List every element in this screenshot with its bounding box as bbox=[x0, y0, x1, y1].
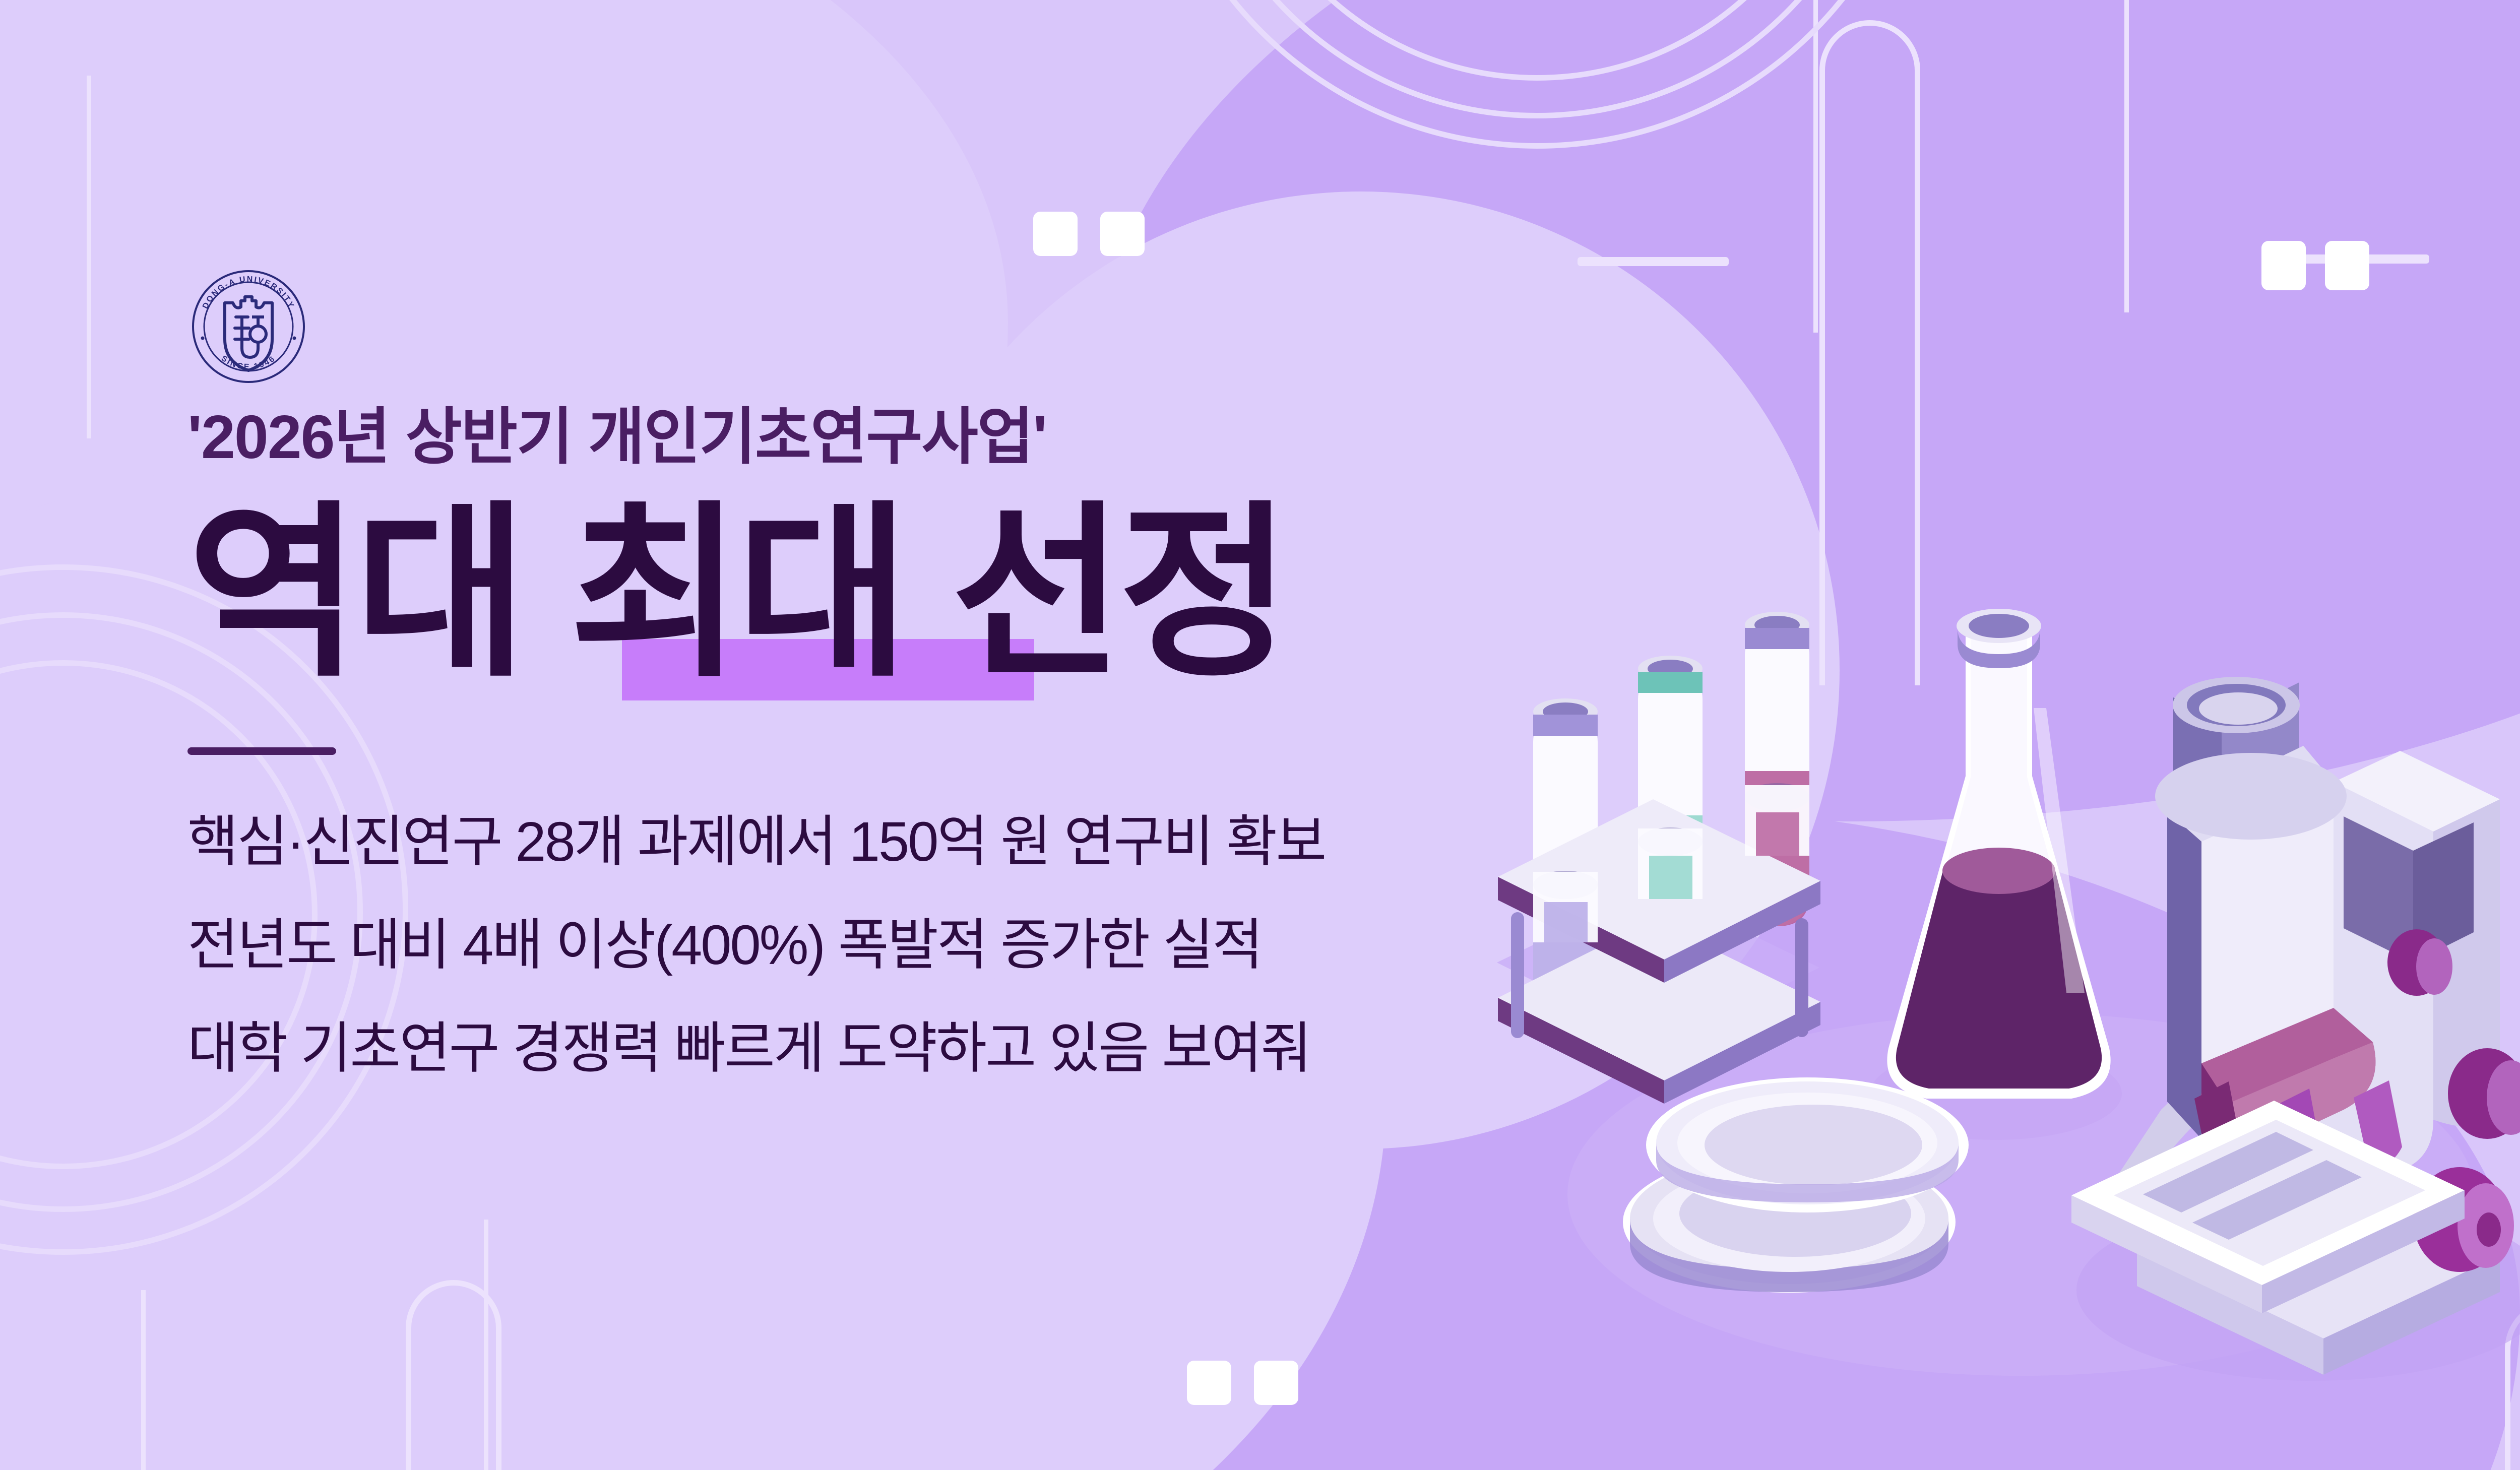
decorative-tick-bar bbox=[1578, 257, 1729, 266]
decorative-vertical-rule bbox=[1813, 0, 1818, 333]
decorative-arch bbox=[406, 1280, 501, 1470]
program-name-eyebrow: '2026년 상반기 개인기초연구사업' bbox=[187, 403, 1548, 471]
laboratory-equipment-illustration bbox=[1487, 580, 2520, 1411]
svg-text:DONG-A UNIVERSITY: DONG-A UNIVERSITY bbox=[201, 275, 296, 310]
headline-wrapper: 역대 최대 선정 bbox=[187, 495, 1286, 692]
decorative-vertical-rule bbox=[141, 1290, 146, 1470]
page-title: 역대 최대 선정 bbox=[187, 495, 1286, 692]
banner-text-content: '2026년 상반기 개인기초연구사업' 역대 최대 선정 핵심·신진연구 28… bbox=[187, 403, 1548, 1076]
decorative-square bbox=[1033, 212, 1078, 256]
decorative-vertical-rule bbox=[2124, 0, 2129, 312]
university-crest-logo: DONG-A UNIVERSITY SINCE 1946 bbox=[185, 264, 311, 390]
summary-bullet-list: 핵심·신진연구 28개 과제에서 150억 원 연구비 확보 전년도 대비 4배… bbox=[187, 814, 1548, 1076]
crest-top-text: DONG-A UNIVERSITY bbox=[201, 275, 296, 310]
summary-line: 핵심·신진연구 28개 과제에서 150억 원 연구비 확보 bbox=[187, 814, 1548, 870]
decorative-vertical-rule bbox=[87, 76, 91, 438]
petri-dish bbox=[1623, 1077, 1969, 1293]
decorative-square bbox=[1254, 1361, 1298, 1405]
research-promo-banner: DONG-A UNIVERSITY SINCE 1946 '2026년 상반기 … bbox=[0, 0, 2520, 1470]
section-divider bbox=[187, 747, 336, 755]
decorative-square bbox=[1187, 1361, 1231, 1405]
erlenmeyer-flask bbox=[1870, 609, 2122, 1140]
decorative-square bbox=[1100, 212, 1145, 256]
summary-line: 전년도 대비 4배 이상(400%) 폭발적 증가한 실적 bbox=[187, 918, 1548, 973]
test-tube-rack-group bbox=[1497, 612, 1820, 1104]
decorative-square bbox=[2261, 241, 2306, 290]
decorative-square bbox=[2325, 241, 2369, 290]
summary-line: 대학 기초연구 경쟁력 빠르게 도약하고 있음 보여줘 bbox=[187, 1021, 1548, 1076]
